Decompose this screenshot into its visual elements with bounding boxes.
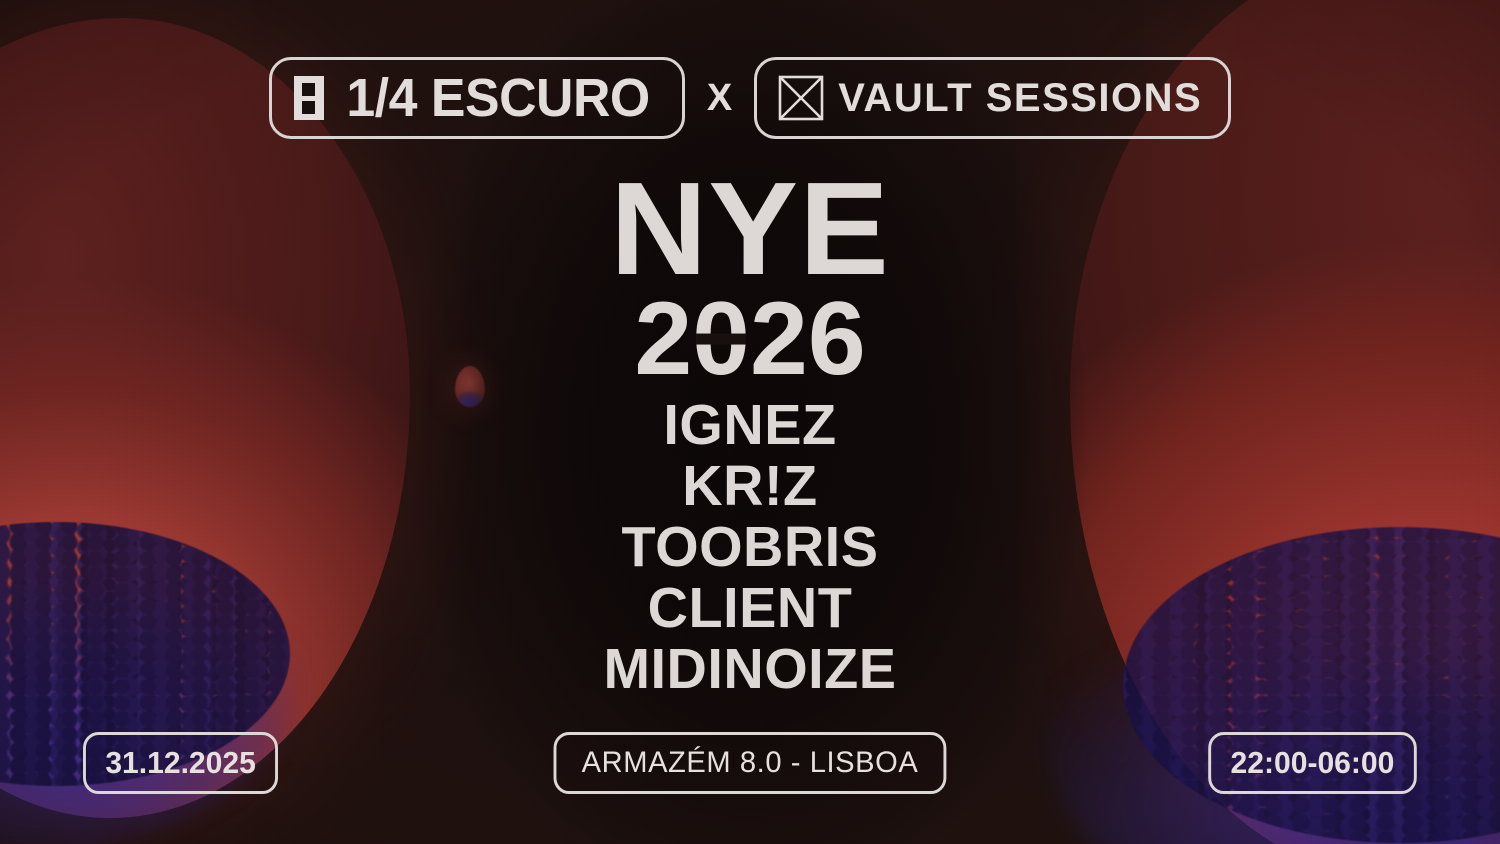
lineup-artist: CLIENT bbox=[15, 578, 1485, 639]
artist-lineup: IGNEZ KR!Z TOOBRIS CLIENT MIDINOIZE bbox=[0, 395, 1500, 700]
event-time-badge: 22:00-06:00 bbox=[1208, 732, 1416, 794]
year-digit-3: 2 bbox=[750, 292, 808, 388]
main-headline-block: NYE 2 0 2 6 IGNEZ KR!Z TOOBRIS CLIENT MI… bbox=[0, 172, 1500, 700]
lineup-artist: TOOBRIS bbox=[15, 517, 1485, 578]
vault-sessions-label: VAULT SESSIONS bbox=[838, 78, 1202, 118]
event-venue-badge: ARMAZÉM 8.0 - LISBOA bbox=[554, 732, 947, 794]
footer-badge-row: 31.12.2025 ARMAZÉM 8.0 - LISBOA 22:00-06… bbox=[0, 732, 1500, 794]
lineup-artist: IGNEZ bbox=[15, 395, 1485, 456]
lineup-artist: MIDINOIZE bbox=[15, 639, 1485, 700]
escuro-brand-badge: 1/4 ESCURO bbox=[269, 57, 685, 139]
year-digit-2-slashed-zero: 0 bbox=[692, 292, 750, 388]
escuro-block-icon bbox=[294, 76, 324, 120]
lineup-artist: KR!Z bbox=[15, 456, 1485, 517]
event-date-badge: 31.12.2025 bbox=[83, 732, 278, 794]
zero-crossbar bbox=[696, 334, 746, 345]
header-badge-row: 1/4 ESCURO X VAULT SESSIONS bbox=[0, 57, 1500, 139]
event-title: NYE bbox=[0, 172, 1500, 286]
event-poster: 1/4 ESCURO X VAULT SESSIONS NYE 2 bbox=[0, 0, 1500, 844]
event-year: 2 0 2 6 bbox=[0, 292, 1500, 388]
poster-content: 1/4 ESCURO X VAULT SESSIONS NYE 2 bbox=[0, 0, 1500, 844]
vault-square-x-icon bbox=[777, 74, 825, 122]
collab-separator-x: X bbox=[705, 79, 734, 117]
year-digit-1: 2 bbox=[634, 292, 692, 388]
escuro-brand-label: 1/4 ESCURO bbox=[346, 71, 649, 125]
year-digit-4: 6 bbox=[808, 292, 866, 388]
vault-sessions-brand-badge: VAULT SESSIONS bbox=[754, 57, 1231, 139]
